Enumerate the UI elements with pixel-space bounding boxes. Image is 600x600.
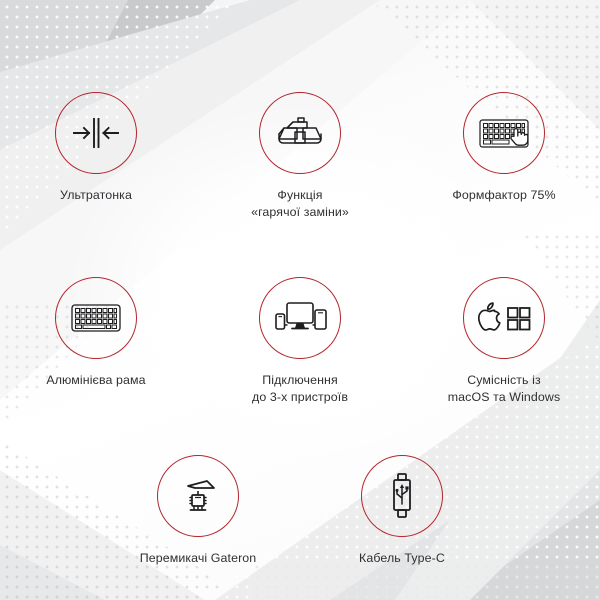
feature-icon-circle (55, 92, 137, 174)
multi-device-icon (273, 298, 327, 338)
feature-label: Кабель Type-C (359, 550, 445, 567)
feature-label: Алюмінієва рама (46, 372, 145, 389)
feature-icon-circle (157, 455, 239, 537)
usb-type-c-icon (385, 471, 419, 521)
feature-three-devices[interactable]: Підключення до 3-х пристроїв (227, 277, 373, 405)
feature-ultra-thin[interactable]: Ультратонка (23, 92, 169, 220)
keyboard-hand-icon (476, 112, 532, 154)
feature-infographic: Ультратонка (0, 0, 600, 600)
feature-icon-circle (463, 92, 545, 174)
feature-icon-circle (463, 277, 545, 359)
feature-icon-circle (55, 277, 137, 359)
feature-label: Перемикачі Gateron (140, 550, 257, 567)
feature-form-factor[interactable]: Формфактор 75% (431, 92, 577, 220)
feature-row-1: Ультратонка (0, 92, 600, 220)
feature-label: Підключення до 3-х пристроїв (252, 372, 348, 405)
feature-icon-circle (259, 92, 341, 174)
feature-type-c-cable[interactable]: Кабель Type-C (329, 455, 475, 567)
feature-grid: Ультратонка (0, 0, 600, 600)
switch-keycap-icon (175, 473, 221, 519)
feature-hot-swap[interactable]: Функція «гарячої заміни» (227, 92, 373, 220)
hot-swap-keycaps-icon (273, 112, 327, 154)
thin-arrows-icon (70, 113, 122, 153)
keyboard-icon (68, 298, 124, 338)
feature-icon-circle (361, 455, 443, 537)
feature-label: Ультратонка (60, 187, 132, 204)
feature-aluminium-frame[interactable]: Алюмінієва рама (23, 277, 169, 405)
feature-row-3: Перемикачі Gateron (0, 455, 600, 567)
feature-gateron-switches[interactable]: Перемикачі Gateron (125, 455, 271, 567)
apple-windows-icon (476, 298, 532, 338)
feature-label: Функція «гарячої заміни» (251, 187, 349, 220)
feature-label: Сумісність із macOS та Windows (448, 372, 561, 405)
feature-row-2: Алюмінієва рама (0, 277, 600, 405)
feature-icon-circle (259, 277, 341, 359)
feature-os-compatibility[interactable]: Сумісність із macOS та Windows (431, 277, 577, 405)
feature-label: Формфактор 75% (452, 187, 555, 204)
